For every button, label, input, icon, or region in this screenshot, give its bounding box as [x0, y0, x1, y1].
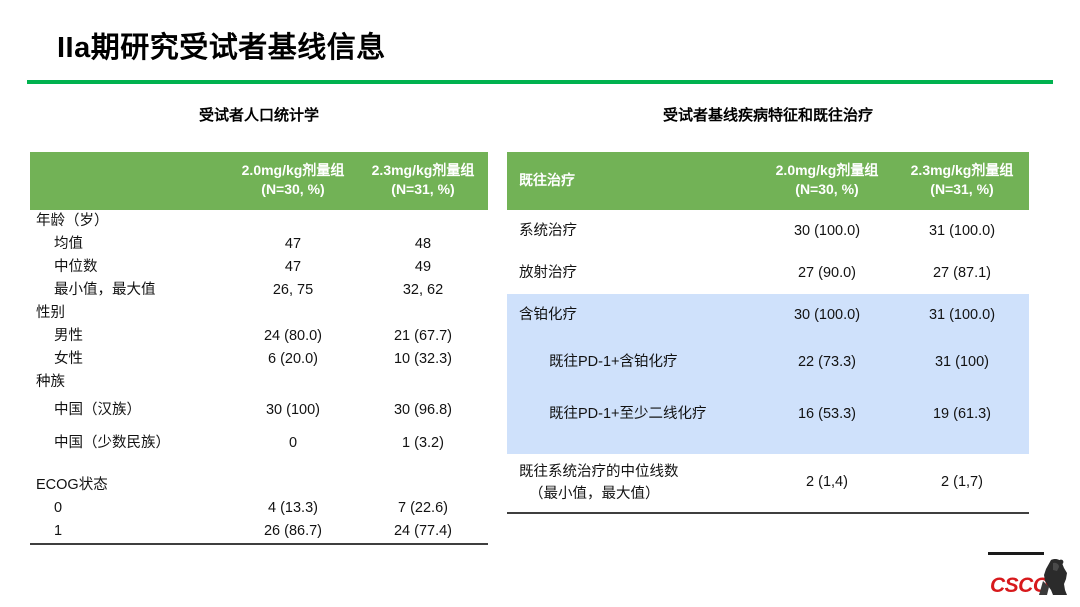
row-label: 性别	[30, 302, 228, 325]
row-value-dose-2-0	[228, 210, 358, 233]
prior-therapy-table: 既往治疗 2.0mg/kg剂量组 (N=30, %) 2.3mg/kg剂量组 (…	[507, 152, 1029, 514]
row-value-dose-2-3: 7 (22.6)	[358, 497, 488, 520]
row-label: 放射治疗	[507, 252, 759, 294]
row-label: 0	[30, 497, 228, 520]
column-header-dose-2-0: 2.0mg/kg剂量组 (N=30, %)	[228, 152, 358, 210]
table-header-row: 既往治疗 2.0mg/kg剂量组 (N=30, %) 2.3mg/kg剂量组 (…	[507, 152, 1029, 210]
table-row: 性别	[30, 302, 488, 325]
table-row-highlighted: 既往PD-1+含铂化疗 22 (73.3) 31 (100)	[507, 336, 1029, 388]
row-value-dose-2-3: 31 (100.0)	[895, 294, 1029, 336]
row-label: 种族	[30, 371, 228, 394]
column-header-dose-2-3: 2.3mg/kg剂量组 (N=31, %)	[358, 152, 488, 210]
row-label-line2: （最小值，最大值）	[519, 484, 759, 506]
row-value-dose-2-3: 27 (87.1)	[895, 252, 1029, 294]
csco-logo: CSCO	[988, 552, 1072, 600]
row-value-dose-2-0: 16 (53.3)	[759, 388, 895, 440]
table-row: 均值 47 48	[30, 233, 488, 256]
row-value-dose-2-3: 19 (61.3)	[895, 388, 1029, 440]
row-value-dose-2-0: 22 (73.3)	[759, 336, 895, 388]
row-label: 含铂化疗	[507, 294, 759, 336]
table-row: 系统治疗 30 (100.0) 31 (100.0)	[507, 210, 1029, 252]
table-row: 最小值，最大值 26, 75 32, 62	[30, 279, 488, 302]
row-value-dose-2-0: 26 (86.7)	[228, 520, 358, 544]
row-label: 既往PD-1+含铂化疗	[507, 336, 759, 388]
table-row: 中位数 47 49	[30, 256, 488, 279]
table-header-row: 2.0mg/kg剂量组 (N=30, %) 2.3mg/kg剂量组 (N=31,…	[30, 152, 488, 210]
row-value-dose-2-3: 31 (100.0)	[895, 210, 1029, 252]
disease-history-heading: 受试者基线疾病特征和既往治疗	[507, 104, 1029, 125]
table-row: 1 26 (86.7) 24 (77.4)	[30, 520, 488, 544]
row-value-dose-2-3: 32, 62	[358, 279, 488, 302]
demographics-table: 2.0mg/kg剂量组 (N=30, %) 2.3mg/kg剂量组 (N=31,…	[30, 152, 488, 545]
row-value-dose-2-0: 26, 75	[228, 279, 358, 302]
row-label-line1: 既往系统治疗的中位线数	[519, 464, 679, 480]
row-value-dose-2-3	[358, 474, 488, 497]
row-value-dose-2-0: 47	[228, 233, 358, 256]
page-title: IIa期研究受试者基线信息	[57, 24, 386, 66]
row-label: 中国（汉族）	[30, 394, 228, 427]
column-header-dose-2-3: 2.3mg/kg剂量组 (N=31, %)	[895, 152, 1029, 210]
row-value-dose-2-0: 0	[228, 427, 358, 460]
table-highlight-spacer-row	[507, 440, 1029, 454]
row-value-dose-2-3	[358, 371, 488, 394]
row-value-dose-2-0	[228, 302, 358, 325]
table-spacer-row	[30, 460, 488, 474]
row-value-dose-2-0: 30 (100)	[228, 394, 358, 427]
row-label: 男性	[30, 325, 228, 348]
row-label: 年龄（岁）	[30, 210, 228, 233]
column-header-label	[30, 152, 228, 210]
row-value-dose-2-3: 49	[358, 256, 488, 279]
row-value-dose-2-0	[228, 474, 358, 497]
row-label-median-prior-lines: 既往系统治疗的中位线数 （最小值，最大值）	[507, 454, 759, 513]
row-value-dose-2-3	[358, 210, 488, 233]
table-row-highlighted: 含铂化疗 30 (100.0) 31 (100.0)	[507, 294, 1029, 336]
row-value-dose-2-0: 6 (20.0)	[228, 348, 358, 371]
table-row: 年龄（岁）	[30, 210, 488, 233]
column-header-dose-2-3-line2: (N=31, %)	[930, 181, 993, 197]
row-label: 系统治疗	[507, 210, 759, 252]
row-label: ECOG状态	[30, 474, 228, 497]
column-header-dose-2-3-line1: 2.3mg/kg剂量组	[911, 162, 1014, 178]
table-row: 女性 6 (20.0) 10 (32.3)	[30, 348, 488, 371]
row-label: 女性	[30, 348, 228, 371]
row-value-dose-2-3: 2 (1,7)	[895, 454, 1029, 513]
table-row: 种族	[30, 371, 488, 394]
column-header-dose-2-0-line2: (N=30, %)	[261, 181, 324, 197]
row-value-dose-2-3: 1 (3.2)	[358, 427, 488, 460]
row-value-dose-2-0	[228, 371, 358, 394]
column-header-dose-2-0: 2.0mg/kg剂量组 (N=30, %)	[759, 152, 895, 210]
row-value-dose-2-0: 30 (100.0)	[759, 210, 895, 252]
row-value-dose-2-3: 21 (67.7)	[358, 325, 488, 348]
column-header-dose-2-0-line1: 2.0mg/kg剂量组	[242, 162, 345, 178]
table-row: 放射治疗 27 (90.0) 27 (87.1)	[507, 252, 1029, 294]
column-header-dose-2-0-line2: (N=30, %)	[795, 181, 858, 197]
row-label: 最小值，最大值	[30, 279, 228, 302]
row-value-dose-2-0: 30 (100.0)	[759, 294, 895, 336]
table-row: 既往系统治疗的中位线数 （最小值，最大值） 2 (1,4) 2 (1,7)	[507, 454, 1029, 513]
demographics-table-body: 年龄（岁） 均值 47 48 中位数 47 49 最小值，最大值 26, 75 …	[30, 210, 488, 544]
row-label: 既往PD-1+至少二线化疗	[507, 388, 759, 440]
row-value-dose-2-3: 48	[358, 233, 488, 256]
row-value-dose-2-3: 10 (32.3)	[358, 348, 488, 371]
column-header-dose-2-0-line1: 2.0mg/kg剂量组	[776, 162, 879, 178]
demographics-panel: 受试者人口统计学 2.0mg/kg剂量组 (N=30, %) 2.3mg/kg剂…	[30, 104, 488, 545]
logo-rule	[988, 552, 1044, 555]
disease-history-panel: 受试者基线疾病特征和既往治疗 既往治疗 2.0mg/kg剂量组 (N=30, %…	[507, 104, 1029, 514]
table-row: 0 4 (13.3) 7 (22.6)	[30, 497, 488, 520]
column-header-dose-2-3-line2: (N=31, %)	[391, 181, 454, 197]
table-row: 男性 24 (80.0) 21 (67.7)	[30, 325, 488, 348]
table-row-highlighted: 既往PD-1+至少二线化疗 16 (53.3) 19 (61.3)	[507, 388, 1029, 440]
table-row: ECOG状态	[30, 474, 488, 497]
row-value-dose-2-0: 24 (80.0)	[228, 325, 358, 348]
column-header-prior-therapy: 既往治疗	[507, 152, 759, 210]
row-value-dose-2-3: 30 (96.8)	[358, 394, 488, 427]
row-value-dose-2-0: 47	[228, 256, 358, 279]
row-label: 中位数	[30, 256, 228, 279]
demographics-heading: 受试者人口统计学	[30, 104, 488, 125]
title-divider	[27, 80, 1053, 84]
logo-statue-icon	[1033, 557, 1069, 597]
prior-therapy-table-body: 系统治疗 30 (100.0) 31 (100.0) 放射治疗 27 (90.0…	[507, 210, 1029, 513]
row-label: 中国（少数民族）	[30, 427, 228, 460]
column-header-dose-2-3-line1: 2.3mg/kg剂量组	[372, 162, 475, 178]
row-label: 均值	[30, 233, 228, 256]
row-value-dose-2-3: 24 (77.4)	[358, 520, 488, 544]
row-value-dose-2-0: 2 (1,4)	[759, 454, 895, 513]
row-value-dose-2-3: 31 (100)	[895, 336, 1029, 388]
table-row: 中国（汉族） 30 (100) 30 (96.8)	[30, 394, 488, 427]
row-label: 1	[30, 520, 228, 544]
row-value-dose-2-0: 27 (90.0)	[759, 252, 895, 294]
table-row: 中国（少数民族） 0 1 (3.2)	[30, 427, 488, 460]
row-value-dose-2-0: 4 (13.3)	[228, 497, 358, 520]
column-header-prior-therapy-text: 既往治疗	[519, 172, 575, 188]
row-value-dose-2-3	[358, 302, 488, 325]
